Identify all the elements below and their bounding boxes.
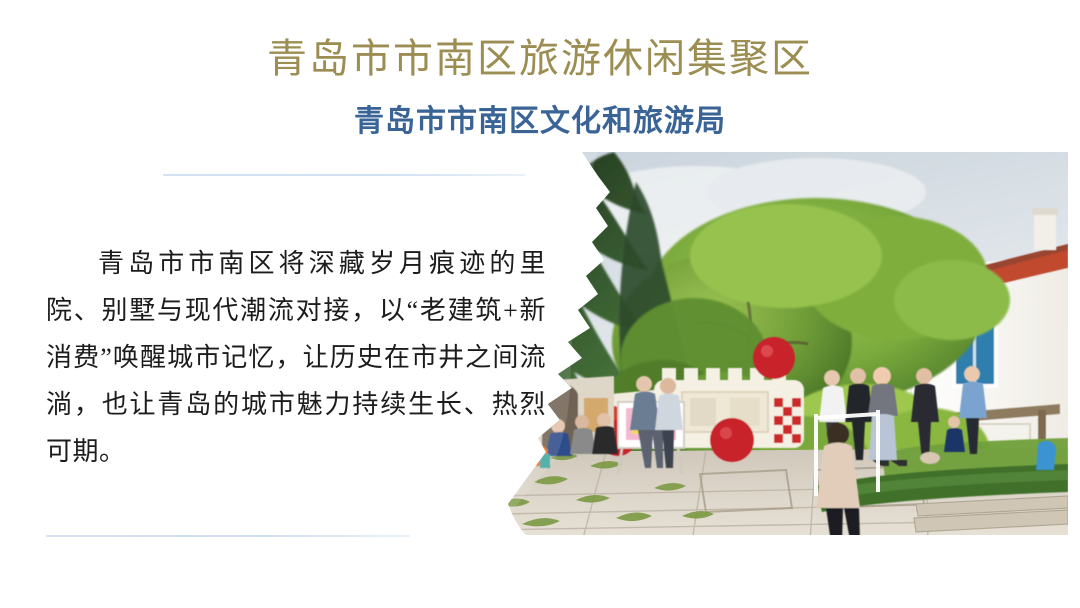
body-paragraph: 青岛市市南区将深藏岁月痕迹的里院、别墅与现代潮流对接，以“老建筑+新消费”唤醒城… [46, 240, 546, 475]
hero-photo-image [486, 152, 1068, 542]
top-divider [163, 174, 525, 176]
slide-canvas: 青岛市市南区旅游休闲集聚区 青岛市市南区文化和旅游局 青岛市市南区将深藏岁月痕迹… [0, 0, 1080, 608]
page-subtitle: 青岛市市南区文化和旅游局 [0, 104, 1080, 140]
bottom-divider [46, 535, 410, 537]
hero-photo [486, 152, 1068, 542]
page-title: 青岛市市南区旅游休闲集聚区 [0, 36, 1080, 82]
hero-photo-alt: 青岛市南区老别墅街区实景：绿树掩映的白色红瓦别墅，石板路广场上的白色餐车、红色气… [0, 0, 1, 1]
